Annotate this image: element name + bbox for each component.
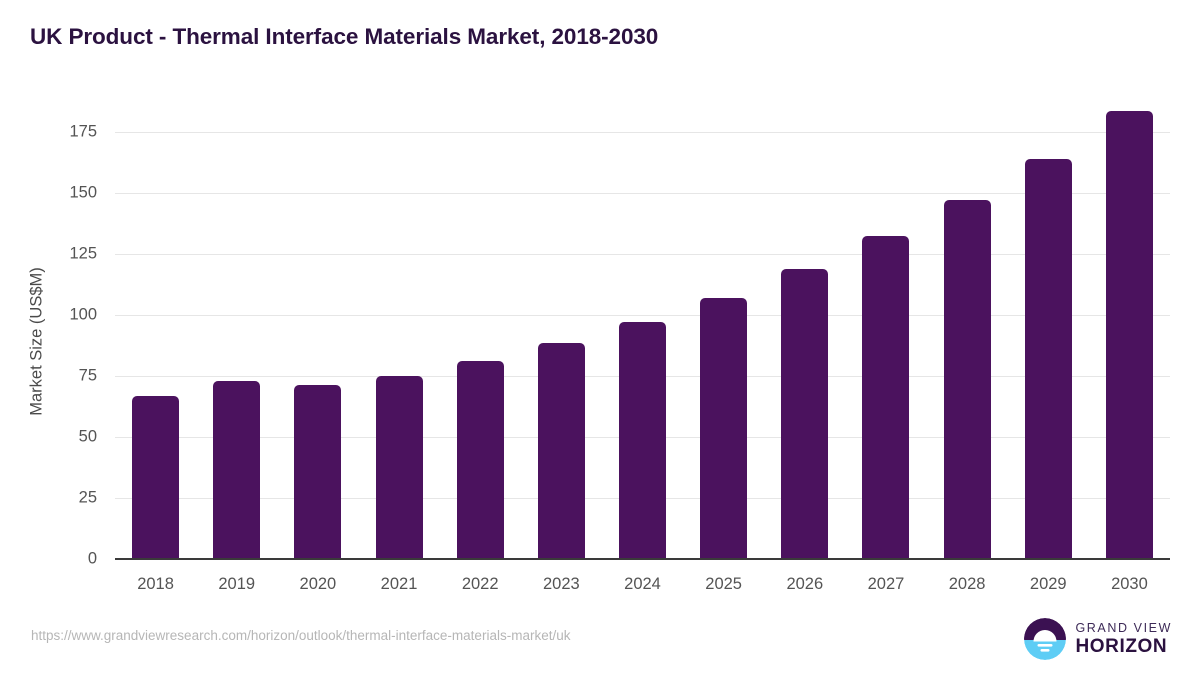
horizon-circle-icon [1024, 618, 1066, 660]
bar-2018[interactable] [132, 396, 179, 559]
bar-2028[interactable] [944, 200, 991, 559]
x-axis-tick-label-2025: 2025 [705, 575, 742, 594]
bar-2026[interactable] [781, 269, 828, 559]
x-axis-tick-label-2027: 2027 [868, 575, 905, 594]
bar-2019[interactable] [213, 381, 260, 559]
page-title: UK Product - Thermal Interface Materials… [30, 24, 658, 50]
plot-area: 0255075100125150175 [115, 132, 1170, 559]
x-axis-tick-label-2024: 2024 [624, 575, 661, 594]
y-axis-tick-label: 50 [37, 428, 97, 447]
gridline [115, 315, 1170, 316]
bar-2020[interactable] [294, 385, 341, 559]
brand-logo: GRAND VIEW HORIZON [1024, 618, 1172, 660]
y-axis-tick-label: 175 [37, 123, 97, 142]
bar-2023[interactable] [538, 343, 585, 559]
x-axis-tick-label-2019: 2019 [218, 575, 255, 594]
source-url[interactable]: https://www.grandviewresearch.com/horizo… [31, 628, 570, 643]
y-axis-tick-label: 125 [37, 245, 97, 264]
gridline [115, 193, 1170, 194]
y-axis-tick-label: 75 [37, 367, 97, 386]
horizon-logo-icon [1024, 618, 1066, 660]
x-axis-tick-label-2026: 2026 [786, 575, 823, 594]
bar-2024[interactable] [619, 322, 666, 559]
logo-bottom-text: HORIZON [1075, 637, 1172, 656]
bar-2021[interactable] [376, 376, 423, 559]
bar-2027[interactable] [862, 236, 909, 559]
bar-2022[interactable] [457, 361, 504, 559]
x-axis-tick-label-2020: 2020 [300, 575, 337, 594]
x-axis-tick-label-2022: 2022 [462, 575, 499, 594]
gridline [115, 254, 1170, 255]
x-axis-tick-label-2029: 2029 [1030, 575, 1067, 594]
y-axis-tick-label: 0 [37, 550, 97, 569]
x-axis-tick-label-2028: 2028 [949, 575, 986, 594]
x-axis-tick-label-2021: 2021 [381, 575, 418, 594]
y-axis-tick-label: 25 [37, 489, 97, 508]
x-axis-tick-label-2018: 2018 [137, 575, 174, 594]
gridline [115, 132, 1170, 133]
y-axis-title: Market Size (US$M) [28, 242, 47, 442]
bar-2029[interactable] [1025, 159, 1072, 559]
x-axis-tick-label-2023: 2023 [543, 575, 580, 594]
bar-2030[interactable] [1106, 111, 1153, 559]
x-axis-tick-label-2030: 2030 [1111, 575, 1148, 594]
bar-2025[interactable] [700, 298, 747, 559]
y-axis-tick-label: 100 [37, 306, 97, 325]
chart-page: UK Product - Thermal Interface Materials… [0, 0, 1200, 675]
y-axis-tick-label: 150 [37, 184, 97, 203]
logo-wordmark: GRAND VIEW HORIZON [1075, 622, 1172, 657]
x-axis-line [115, 558, 1170, 560]
logo-top-text: GRAND VIEW [1075, 622, 1172, 635]
